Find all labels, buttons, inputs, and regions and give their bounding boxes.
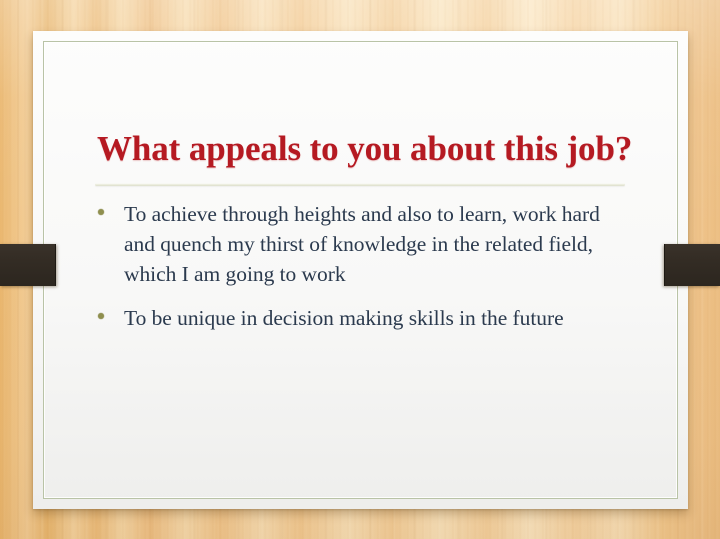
slide-stage: What appeals to you about this job? To a… [0, 0, 720, 539]
bullet-list: To achieve through heights and also to l… [93, 199, 623, 347]
slide-content-area: What appeals to you about this job? To a… [33, 31, 688, 509]
list-item: To be unique in decision making skills i… [93, 303, 623, 333]
slide-title: What appeals to you about this job? [97, 129, 657, 169]
bullet-dot-icon [98, 313, 104, 319]
bullet-dot-icon [98, 209, 104, 215]
title-underline-rule [95, 183, 625, 186]
left-ribbon-tab [0, 244, 56, 286]
right-ribbon-tab [664, 244, 720, 286]
list-item: To achieve through heights and also to l… [93, 199, 623, 289]
list-item-label: To achieve through heights and also to l… [124, 199, 623, 289]
list-item-label: To be unique in decision making skills i… [124, 303, 623, 333]
slide-card: What appeals to you about this job? To a… [33, 31, 688, 509]
